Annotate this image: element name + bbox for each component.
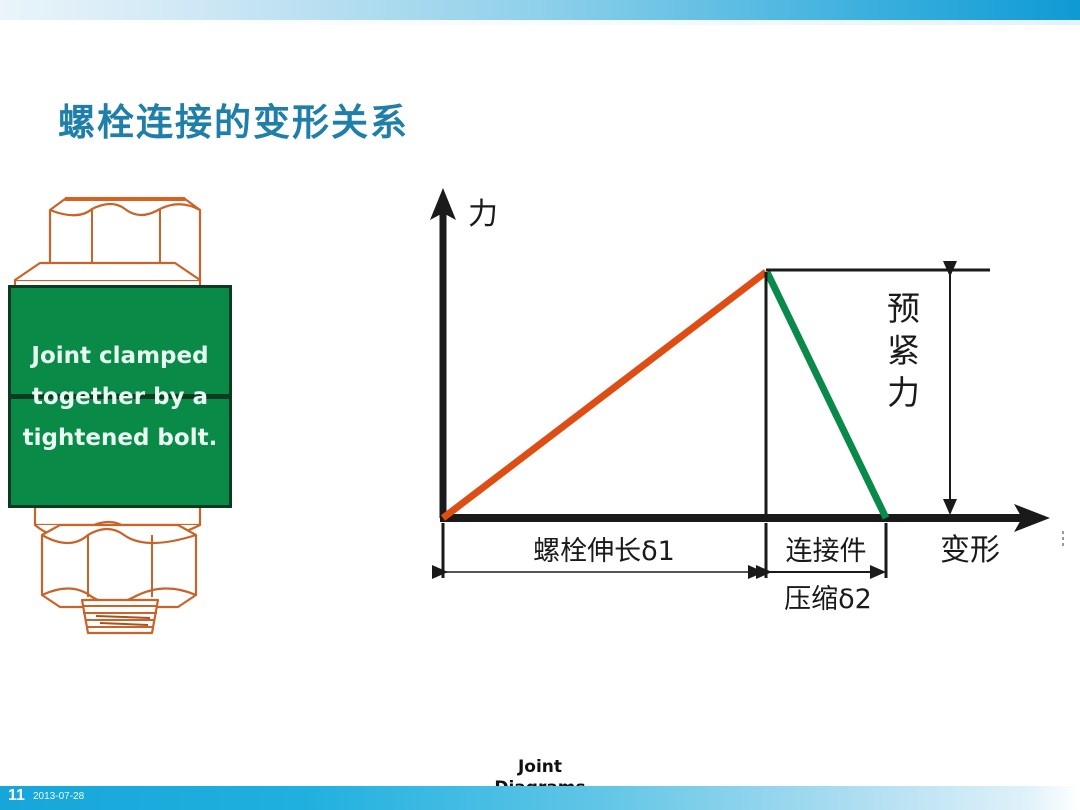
- svg-text:力: 力: [887, 373, 920, 412]
- footer-caption-line-1: Joint: [0, 757, 1080, 778]
- bolt-elongation-dimension-label: 螺栓伸长δ1: [533, 536, 675, 567]
- slide-canvas: 螺栓连接的变形关系: [0, 0, 1080, 810]
- top-bar-fade: [0, 20, 1080, 25]
- x-axis-label: 变形: [940, 533, 1000, 568]
- right-edge-tick-mark: [1062, 531, 1064, 549]
- preload-dimension-label: 预 紧 力: [887, 289, 920, 412]
- top-decorative-bar: [0, 0, 1080, 20]
- svg-text:预: 预: [887, 289, 920, 328]
- bolt-elongation-line: [443, 272, 766, 518]
- svg-text:紧: 紧: [887, 331, 920, 370]
- footer-date: 2013-07-28: [33, 791, 84, 802]
- joint-diagram-chart: 力 变形 预 紧 力: [410, 180, 1070, 640]
- page-number: 11: [8, 787, 25, 805]
- y-axis: [430, 188, 456, 518]
- bolt-shank-and-nut-group: [35, 507, 200, 633]
- clamped-plate-lower: [8, 396, 232, 508]
- bolt-head-group: [15, 199, 200, 297]
- joint-compression-dimension-label: 压缩δ2: [784, 584, 872, 615]
- nut-hex: [42, 525, 196, 607]
- bolt-head-flange-taper: [15, 263, 200, 280]
- joint-compression-line: [767, 272, 886, 518]
- footer-bar: [0, 786, 1080, 810]
- clamped-plate-upper: [8, 285, 232, 397]
- x-axis: [440, 504, 1050, 532]
- y-axis-label: 力: [468, 197, 498, 232]
- joint-member-label: 连接件: [786, 536, 867, 567]
- page-title: 螺栓连接的变形关系: [58, 92, 409, 146]
